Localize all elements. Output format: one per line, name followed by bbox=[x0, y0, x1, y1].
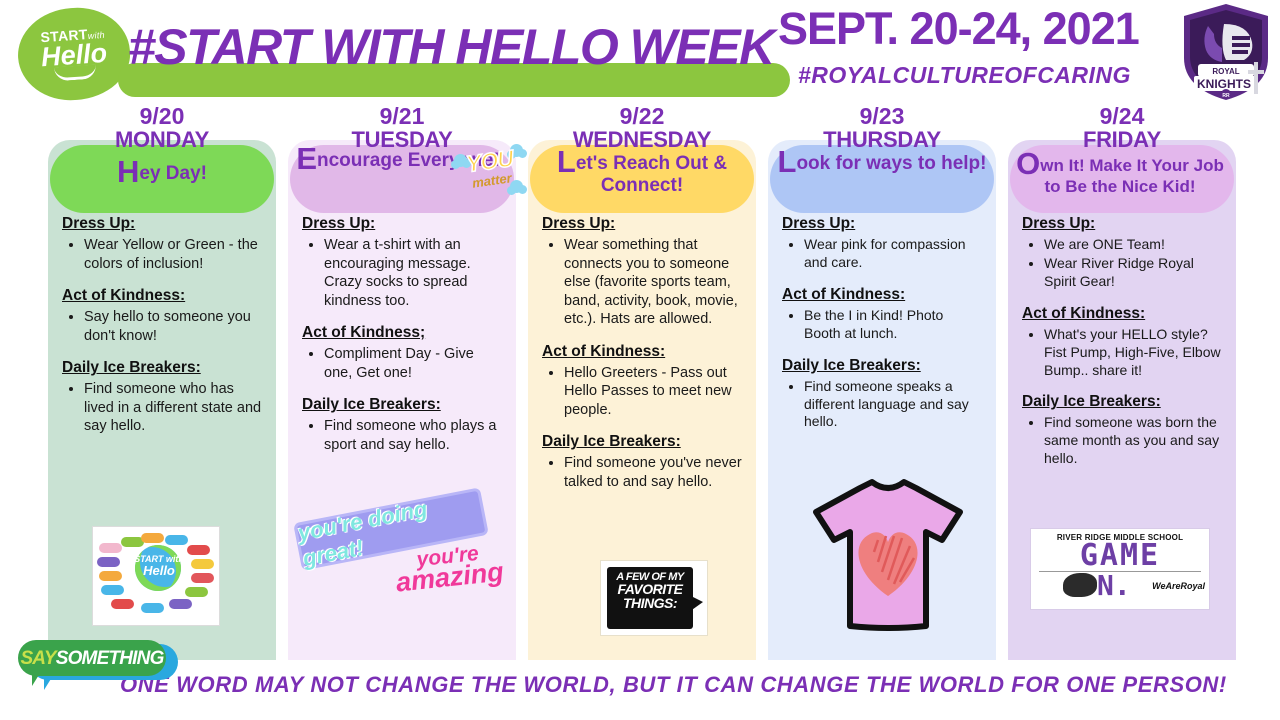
section-heading-ice-breakers: Daily Ice Breakers: bbox=[782, 357, 982, 375]
section-heading-act-of-kindness: Act of Kindness: bbox=[62, 287, 262, 305]
speech-bubble-icon bbox=[101, 585, 124, 595]
we-are-royal-text: WeAreRoyal bbox=[1152, 581, 1205, 591]
knight-head-icon bbox=[1063, 573, 1097, 597]
hashtag-text: #ROYALCULTUREOFCARING bbox=[798, 62, 1198, 89]
fav-line-3: THINGS: bbox=[607, 597, 693, 611]
footer-tagline: ONE WORD MAY NOT CHANGE THE WORLD, BUT I… bbox=[120, 672, 1260, 698]
green-speech-bubble-icon: SAYSOMETHING bbox=[18, 640, 166, 676]
speech-bubble-icon bbox=[141, 533, 164, 543]
game-on-image: RIVER RIDGE MIDDLE SCHOOL GAME N. WeAreR… bbox=[1030, 528, 1210, 610]
section-list-dress-up: Wear something that connects you to some… bbox=[542, 236, 742, 329]
section-list-act-of-kindness: Be the I in Kind! Photo Booth at lunch. bbox=[782, 307, 982, 343]
speech-bubble-icon bbox=[165, 535, 188, 545]
section-heading-ice-breakers: Daily Ice Breakers: bbox=[542, 433, 742, 451]
section-list-act-of-kindness: Say hello to someone you don't know! bbox=[62, 308, 262, 345]
list-item: Find someone speaks a different language… bbox=[804, 378, 982, 432]
section-heading-act-of-kindness: Act of Kindness: bbox=[1022, 305, 1222, 323]
game-on-bottom-row: N. WeAreRoyal bbox=[1031, 573, 1209, 603]
list-item: Compliment Day - Give one, Get one! bbox=[324, 345, 502, 382]
start-with-hello-poster-image: START with Hello bbox=[92, 526, 220, 626]
section-list-ice-breakers: Find someone who plays a sport and say h… bbox=[302, 417, 502, 454]
say-something-logo: SAYSOMETHING bbox=[14, 640, 179, 684]
speech-bubble-icon bbox=[99, 571, 122, 581]
list-item: Find someone who plays a sport and say h… bbox=[324, 417, 502, 454]
say-something-text: SAYSOMETHING bbox=[20, 649, 163, 668]
speech-bubble-icon bbox=[185, 587, 208, 597]
list-item: Find someone was born the same month as … bbox=[1044, 414, 1222, 468]
smile-icon bbox=[54, 64, 97, 81]
section-heading-dress-up: Dress Up: bbox=[1022, 215, 1222, 233]
speech-bubble-icon bbox=[191, 573, 214, 583]
day-header-pill-thursday bbox=[770, 145, 994, 213]
day-header-pill-wednesday bbox=[530, 145, 754, 213]
list-item: Find someone who has lived in a differen… bbox=[84, 380, 262, 436]
poster-hello-text: START with Hello bbox=[131, 555, 187, 577]
start-with-hello-logo: STARTwith Hello bbox=[15, 4, 133, 104]
section-heading-act-of-kindness: Act of Kindness: bbox=[782, 286, 982, 304]
section-list-act-of-kindness: Hello Greeters - Pass out Hello Passes t… bbox=[542, 364, 742, 420]
list-item: Find someone you've never talked to and … bbox=[564, 454, 742, 491]
day-header-pill-friday bbox=[1010, 145, 1234, 213]
favorite-things-sticker-image: A FEW OF MY FAVORITE THINGS: bbox=[600, 560, 708, 636]
speech-bubble-icon bbox=[191, 559, 214, 569]
section-heading-act-of-kindness: Act of Kindness: bbox=[542, 343, 742, 361]
section-list-act-of-kindness: Compliment Day - Give one, Get one! bbox=[302, 345, 502, 382]
date-range-title: SEPT. 20-24, 2021 bbox=[778, 6, 1208, 51]
royal-knights-mascot-icon: ROYAL KNIGHTS RR bbox=[1178, 2, 1274, 102]
speech-tail-icon bbox=[689, 595, 703, 612]
list-item: Say hello to someone you don't know! bbox=[84, 308, 262, 345]
svg-text:RR: RR bbox=[1222, 93, 1230, 99]
section-list-ice-breakers: Find someone was born the same month as … bbox=[1022, 414, 1222, 468]
section-heading-ice-breakers: Daily Ice Breakers: bbox=[302, 396, 502, 414]
list-item: Wear something that connects you to some… bbox=[564, 236, 742, 329]
section-heading-dress-up: Dress Up: bbox=[302, 215, 502, 233]
day-header-pill-monday bbox=[50, 145, 274, 213]
section-heading-dress-up: Dress Up: bbox=[62, 215, 262, 233]
list-item: Wear pink for compassion and care. bbox=[804, 236, 982, 272]
on-text: N. bbox=[1097, 569, 1131, 602]
svg-text:ROYAL: ROYAL bbox=[1212, 67, 1239, 76]
list-item: Be the I in Kind! Photo Booth at lunch. bbox=[804, 307, 982, 343]
svg-text:KNIGHTS: KNIGHTS bbox=[1197, 77, 1251, 91]
speech-bubble-icon bbox=[99, 543, 122, 553]
list-item: Wear Yellow or Green - the colors of inc… bbox=[84, 236, 262, 273]
section-list-dress-up: Wear a t-shirt with an encouraging messa… bbox=[302, 236, 502, 310]
speech-bubble-icon bbox=[141, 603, 164, 613]
say-text: SAY bbox=[20, 648, 55, 669]
pink-tshirt-image bbox=[800, 478, 976, 636]
section-list-dress-up: Wear pink for compassion and care. bbox=[782, 236, 982, 272]
section-heading-dress-up: Dress Up: bbox=[542, 215, 742, 233]
game-text: GAME bbox=[1031, 542, 1209, 570]
something-text: SOMETHING bbox=[56, 648, 164, 669]
list-item: Wear a t-shirt with an encouraging messa… bbox=[324, 236, 502, 310]
section-heading-ice-breakers: Daily Ice Breakers: bbox=[1022, 393, 1222, 411]
section-heading-dress-up: Dress Up: bbox=[782, 215, 982, 233]
section-list-ice-breakers: Find someone who has lived in a differen… bbox=[62, 380, 262, 436]
section-list-ice-breakers: Find someone speaks a different language… bbox=[782, 378, 982, 432]
list-item: We are ONE Team! bbox=[1044, 236, 1222, 254]
page-header: STARTwith Hello #START WITH HELLO WEEK S… bbox=[0, 0, 1280, 110]
speech-bubble-icon bbox=[169, 599, 192, 609]
section-heading-ice-breakers: Daily Ice Breakers: bbox=[62, 359, 262, 377]
list-item: What's your HELLO style? Fist Pump, High… bbox=[1044, 326, 1222, 380]
speech-bubble-icon bbox=[97, 557, 120, 567]
blue-bubble-tail-icon bbox=[44, 674, 54, 690]
favorite-things-block: A FEW OF MY FAVORITE THINGS: bbox=[607, 567, 693, 629]
you-matter-sticker-image: YOU matter bbox=[452, 140, 530, 204]
speech-bubble-icon bbox=[111, 599, 134, 609]
poster-title: Hello bbox=[131, 564, 187, 577]
section-heading-act-of-kindness: Act of Kindness; bbox=[302, 324, 502, 342]
section-list-act-of-kindness: What's your HELLO style? Fist Pump, High… bbox=[1022, 326, 1222, 380]
list-item: Wear River Ridge Royal Spirit Gear! bbox=[1044, 255, 1222, 291]
section-list-dress-up: Wear Yellow or Green - the colors of inc… bbox=[62, 236, 262, 273]
section-list-dress-up: We are ONE Team! Wear River Ridge Royal … bbox=[1022, 236, 1222, 291]
speech-bubble-icon bbox=[187, 545, 210, 555]
list-item: Hello Greeters - Pass out Hello Passes t… bbox=[564, 364, 742, 420]
page-title: #START WITH HELLO WEEK bbox=[128, 22, 808, 72]
section-list-ice-breakers: Find someone you've never talked to and … bbox=[542, 454, 742, 491]
